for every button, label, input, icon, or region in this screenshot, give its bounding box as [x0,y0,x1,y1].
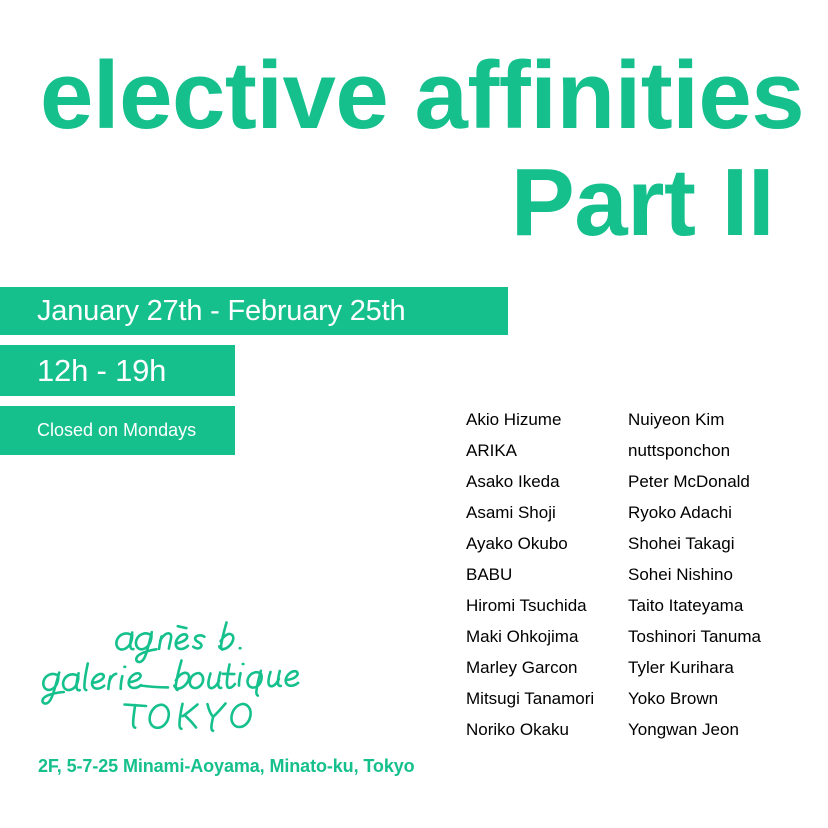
list-item: Yongwan Jeon [628,714,828,745]
list-item: Mitsugi Tanamori [466,683,628,714]
list-item: ARIKA [466,435,628,466]
list-item: Shohei Takagi [628,528,828,559]
list-item: Ayako Okubo [466,528,628,559]
list-item: Marley Garcon [466,652,628,683]
list-item: Taito Itateyama [628,590,828,621]
list-item: Tyler Kurihara [628,652,828,683]
gallery-address: 2F, 5-7-25 Minami-Aoyama, Minato-ku, Tok… [38,756,415,777]
list-item: nuttsponchon [628,435,828,466]
agnes-b-logo-svg [30,608,310,733]
list-item: Ryoko Adachi [628,497,828,528]
opening-hours-text: 12h - 19h [37,353,166,389]
list-item: Asako Ikeda [466,466,628,497]
list-item: Yoko Brown [628,683,828,714]
title-line-secondary: Part II [511,155,774,251]
list-item: BABU [466,559,628,590]
closed-days-text: Closed on Mondays [37,420,196,441]
list-item: Peter McDonald [628,466,828,497]
banner-closed-days: Closed on Mondays [0,406,235,455]
list-item: Noriko Okaku [466,714,628,745]
list-item: Maki Ohkojima [466,621,628,652]
exhibition-dates-text: January 27th - February 25th [37,295,405,328]
exhibition-poster: elective affinities Part II January 27th… [0,0,828,828]
list-item: Akio Hizume [466,404,628,435]
artist-column-1: Akio Hizume ARIKA Asako Ikeda Asami Shoj… [466,404,628,745]
list-item: Hiromi Tsuchida [466,590,628,621]
agnes-b-logo [30,608,310,733]
artist-list: Akio Hizume ARIKA Asako Ikeda Asami Shoj… [466,404,828,745]
artist-column-2: Nuiyeon Kim nuttsponchon Peter McDonald … [628,404,828,745]
banner-exhibition-dates: January 27th - February 25th [0,287,508,335]
banner-opening-hours: 12h - 19h [0,345,235,396]
list-item: Nuiyeon Kim [628,404,828,435]
list-item: Asami Shoji [466,497,628,528]
list-item: Sohei Nishino [628,559,828,590]
title-line-primary: elective affinities [40,48,804,144]
list-item: Toshinori Tanuma [628,621,828,652]
